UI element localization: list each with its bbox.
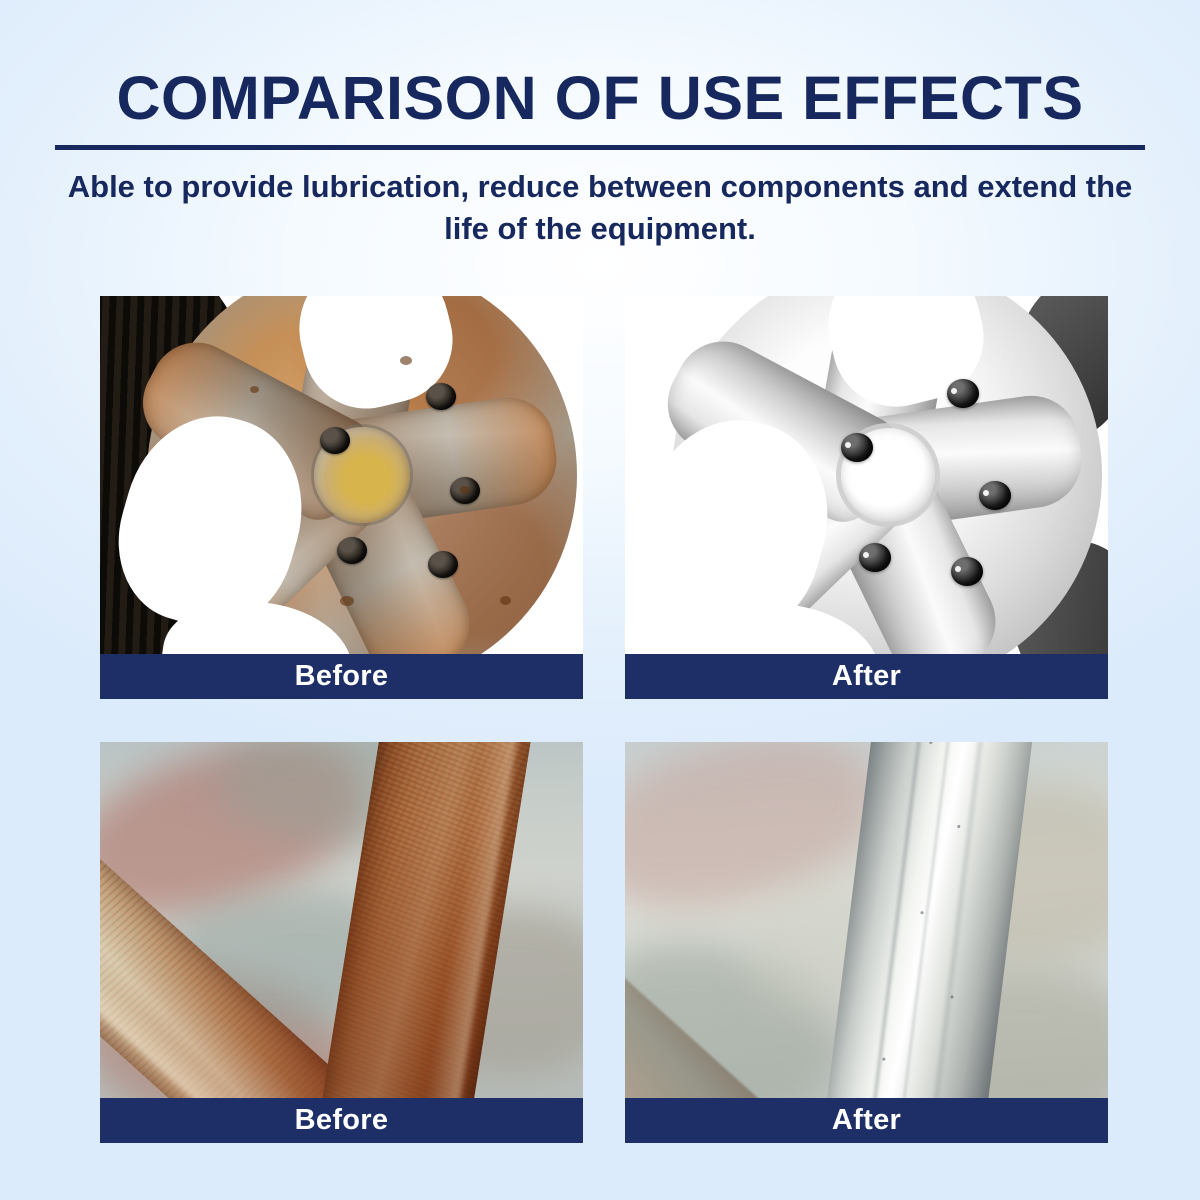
lug-nut — [337, 537, 367, 564]
lug-nut — [859, 543, 891, 572]
lug-nut — [428, 551, 458, 578]
lug-nut — [426, 383, 456, 410]
rust-speck — [460, 486, 470, 494]
rust-speck — [340, 596, 354, 606]
photo-clean-pipe — [625, 742, 1108, 1098]
lug-nut — [979, 481, 1011, 510]
header: COMPARISON OF USE EFFECTS Able to provid… — [0, 0, 1200, 250]
comparison-grid: Before After — [100, 296, 1108, 1143]
photo-rusty-pipe — [100, 742, 583, 1098]
rust-speck — [400, 356, 412, 365]
comparison-row-pipe: Before — [100, 742, 1108, 1143]
comparison-row-wheel: Before After — [100, 296, 1108, 699]
pipe-streak — [858, 742, 931, 1098]
rust-speck — [500, 596, 511, 605]
lug-nut — [947, 379, 979, 408]
rust-speck — [250, 386, 259, 393]
lug-nut — [320, 427, 350, 454]
panel-wheel-after: After — [625, 296, 1108, 699]
title-divider-rule — [55, 145, 1145, 150]
photo-clean-wheel — [625, 296, 1108, 654]
lug-nut — [841, 433, 873, 462]
pipe-speck — [929, 742, 932, 744]
pipe-streak — [918, 742, 993, 1098]
panel-pipe-before: Before — [100, 742, 583, 1143]
lug-nut — [951, 557, 983, 586]
caption-before: Before — [100, 1098, 583, 1143]
pipe-speck — [957, 825, 960, 828]
caption-after: After — [625, 1098, 1108, 1143]
panel-pipe-after: After — [625, 742, 1108, 1143]
pipe-speck — [920, 911, 923, 914]
page-title: COMPARISON OF USE EFFECTS — [0, 68, 1200, 129]
page-subtitle: Able to provide lubrication, reduce betw… — [0, 166, 1200, 250]
caption-before: Before — [100, 654, 583, 699]
pipe-speck — [882, 1057, 885, 1060]
caption-after: After — [625, 654, 1108, 699]
photo-rusty-wheel — [100, 296, 583, 654]
panel-wheel-before: Before — [100, 296, 583, 699]
